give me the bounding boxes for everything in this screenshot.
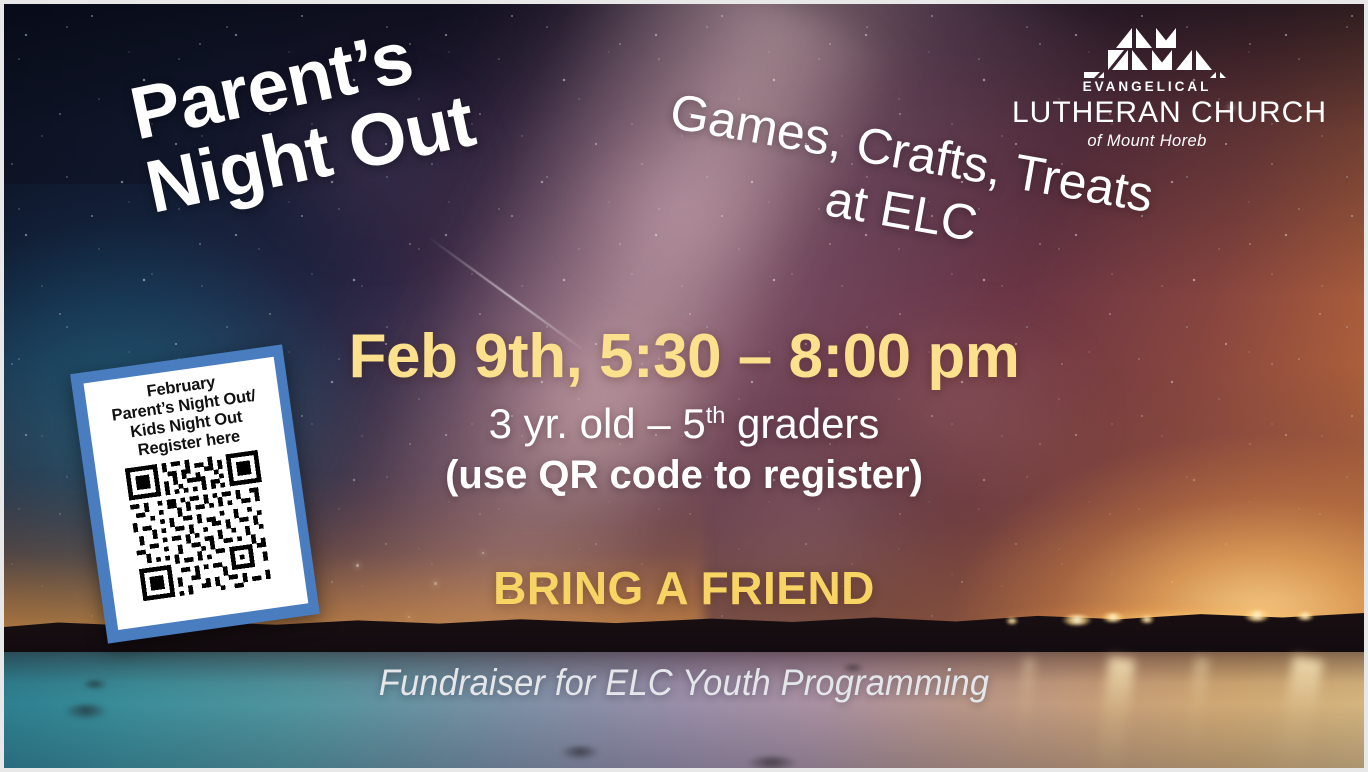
triangular-arch-mark <box>1046 26 1248 78</box>
shore-lamp <box>1062 615 1092 625</box>
age-range-ordinal-suffix: th <box>706 402 726 428</box>
water-rock <box>746 756 798 768</box>
water-rock <box>64 704 108 720</box>
event-age-range: 3 yr. old – 5th graders <box>4 399 1364 449</box>
event-date-time: Feb 9th, 5:30 – 8:00 pm <box>4 324 1364 389</box>
logo-evangelical-text: EVANGELICAL <box>1012 79 1282 94</box>
logo-lutheran-church-text: LUTHERAN CHURCH <box>1012 96 1282 130</box>
shore-lamp <box>1140 616 1154 623</box>
water-rock <box>560 746 600 760</box>
flyer-poster: EVANGELICAL LUTHERAN CHURCH of Mount Hor… <box>0 0 1368 772</box>
event-details-column: Feb 9th, 5:30 – 8:00 pm 3 yr. old – 5th … <box>4 324 1364 615</box>
age-range-prefix: 3 yr. old – 5 <box>489 400 706 447</box>
fundraiser-note: Fundraiser for ELC Youth Programming <box>52 662 1317 704</box>
call-to-action-bring-a-friend: BRING A FRIEND <box>4 561 1364 615</box>
age-range-suffix: graders <box>725 400 879 447</box>
church-logo: EVANGELICAL LUTHERAN CHURCH of Mount Hor… <box>1012 26 1282 151</box>
shore-lamp <box>1006 618 1018 624</box>
qr-registration-instruction: (use QR code to register) <box>4 451 1364 499</box>
